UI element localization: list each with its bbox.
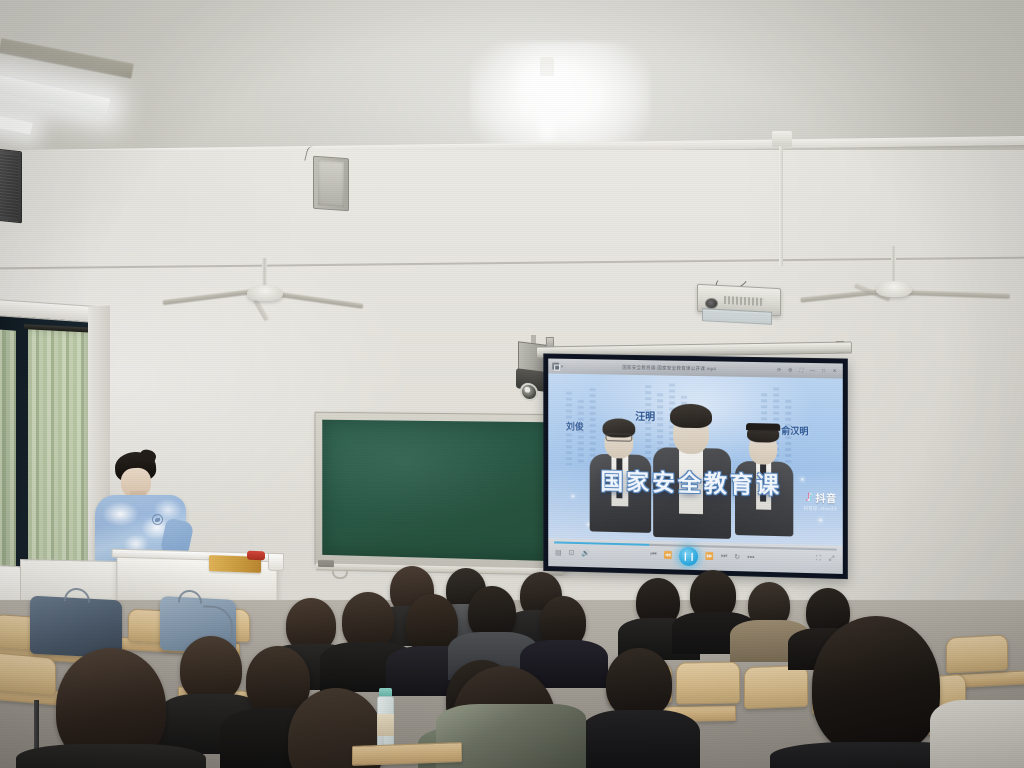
douyin-brand-text: 抖音 [815,490,836,506]
wall-speaker-left [0,149,22,224]
next-icon[interactable]: ⏭ [721,553,727,561]
volume-icon[interactable]: 🔊 [581,549,590,557]
student-head-foreground [812,616,940,756]
play-pause-button[interactable]: ❙❙ [679,546,698,565]
ceiling-mount-pipe [779,146,783,266]
video-speaker-name-left: 刘俊 [566,423,584,433]
student-shoulders [16,744,206,768]
ceiling-mount-bracket [772,131,792,147]
more-options-icon[interactable]: ••• [747,554,754,561]
student-shoulders [580,710,700,768]
music-note-icon: ♪ [806,492,813,503]
player-menu-area[interactable]: ▾ [548,362,563,369]
forward-icon[interactable]: ⏩ [705,552,714,560]
video-title-text: 国家安全教育课 [600,462,782,500]
video-speaker-name-right: 俞汉明 [781,428,808,438]
ceiling-light-spill [534,116,560,146]
ceiling-light-base [531,76,563,83]
chair-back [946,634,1008,673]
playlist-icon[interactable]: ▤ [555,548,562,556]
student-clothing [930,700,1024,768]
blackboard [315,412,567,572]
window-curtain-left [0,329,16,597]
ceiling-fan-right-rod [891,246,896,286]
podium-cup [268,553,284,571]
maximize-icon[interactable]: □ [821,368,827,374]
douyin-watermark: ♪ 抖音 抖音号: zhxx23 [804,489,837,512]
rewind-icon[interactable]: ⏪ [664,551,673,559]
projector-lens-icon [705,298,718,309]
ceiling-fan-left-motor [247,285,283,301]
video-speaker-name-center: 汪明 [635,413,655,424]
projected-image: ▾ 国家安全教育课-国家安全教育课公开课.mp4 ⟳ ⚙ ⛶ — □ ✕ [548,359,843,574]
desk-surface [352,742,462,766]
video-frame[interactable]: 刘俊 汪明 俞汉明 [548,373,843,545]
video-file-title: 国家安全教育课-国家安全教育课公开课.mp4 [563,363,776,373]
blackboard-eraser [318,560,334,567]
controls-right-group[interactable]: ⛶ ⤢ [816,555,843,564]
previous-icon[interactable]: ⏮ [650,551,656,559]
player-logo-icon [552,363,559,370]
glasses-icon [606,433,633,442]
uniform-cap-icon [746,423,780,431]
sweatshirt-logo-icon [152,514,163,525]
controls-left-group[interactable]: ▤ ⊡ 🔊 [548,548,590,557]
loop-icon[interactable]: ↻ [734,553,740,561]
podium-red-object [247,551,265,561]
refresh-icon[interactable]: ⟳ [776,367,782,373]
student-head [180,636,242,702]
student-head [606,648,672,718]
window-buttons[interactable]: ⟳ ⚙ ⛶ — □ ✕ [776,367,843,374]
minimize-icon[interactable]: — [809,367,815,373]
fullscreen-toggle-icon[interactable]: ⛶ [816,555,821,563]
wall-speaker-center [313,156,349,212]
chair-back [744,665,808,709]
window-curtain [28,328,94,593]
ceiling-fan-right-motor [876,281,912,297]
expand-icon[interactable]: ⤢ [829,555,835,563]
screenshot-icon[interactable]: ⊡ [569,549,575,557]
douyin-account-label: 抖音号: zhxx23 [804,506,837,513]
bottle-label [377,714,394,736]
chair-back [676,661,740,704]
projection-screen: ▾ 国家安全教育课-国家安全教育课公开课.mp4 ⟳ ⚙ ⛶ — □ ✕ [543,353,848,579]
classroom-photo: ▾ 国家安全教育课-国家安全教育课公开课.mp4 ⟳ ⚙ ⛶ — □ ✕ [0,0,1024,768]
blackboard-surface [322,420,558,562]
fullscreen-icon[interactable]: ⛶ [798,367,804,373]
close-icon[interactable]: ✕ [832,368,838,374]
chair-back [0,652,56,696]
gear-icon[interactable]: ⚙ [787,367,793,373]
